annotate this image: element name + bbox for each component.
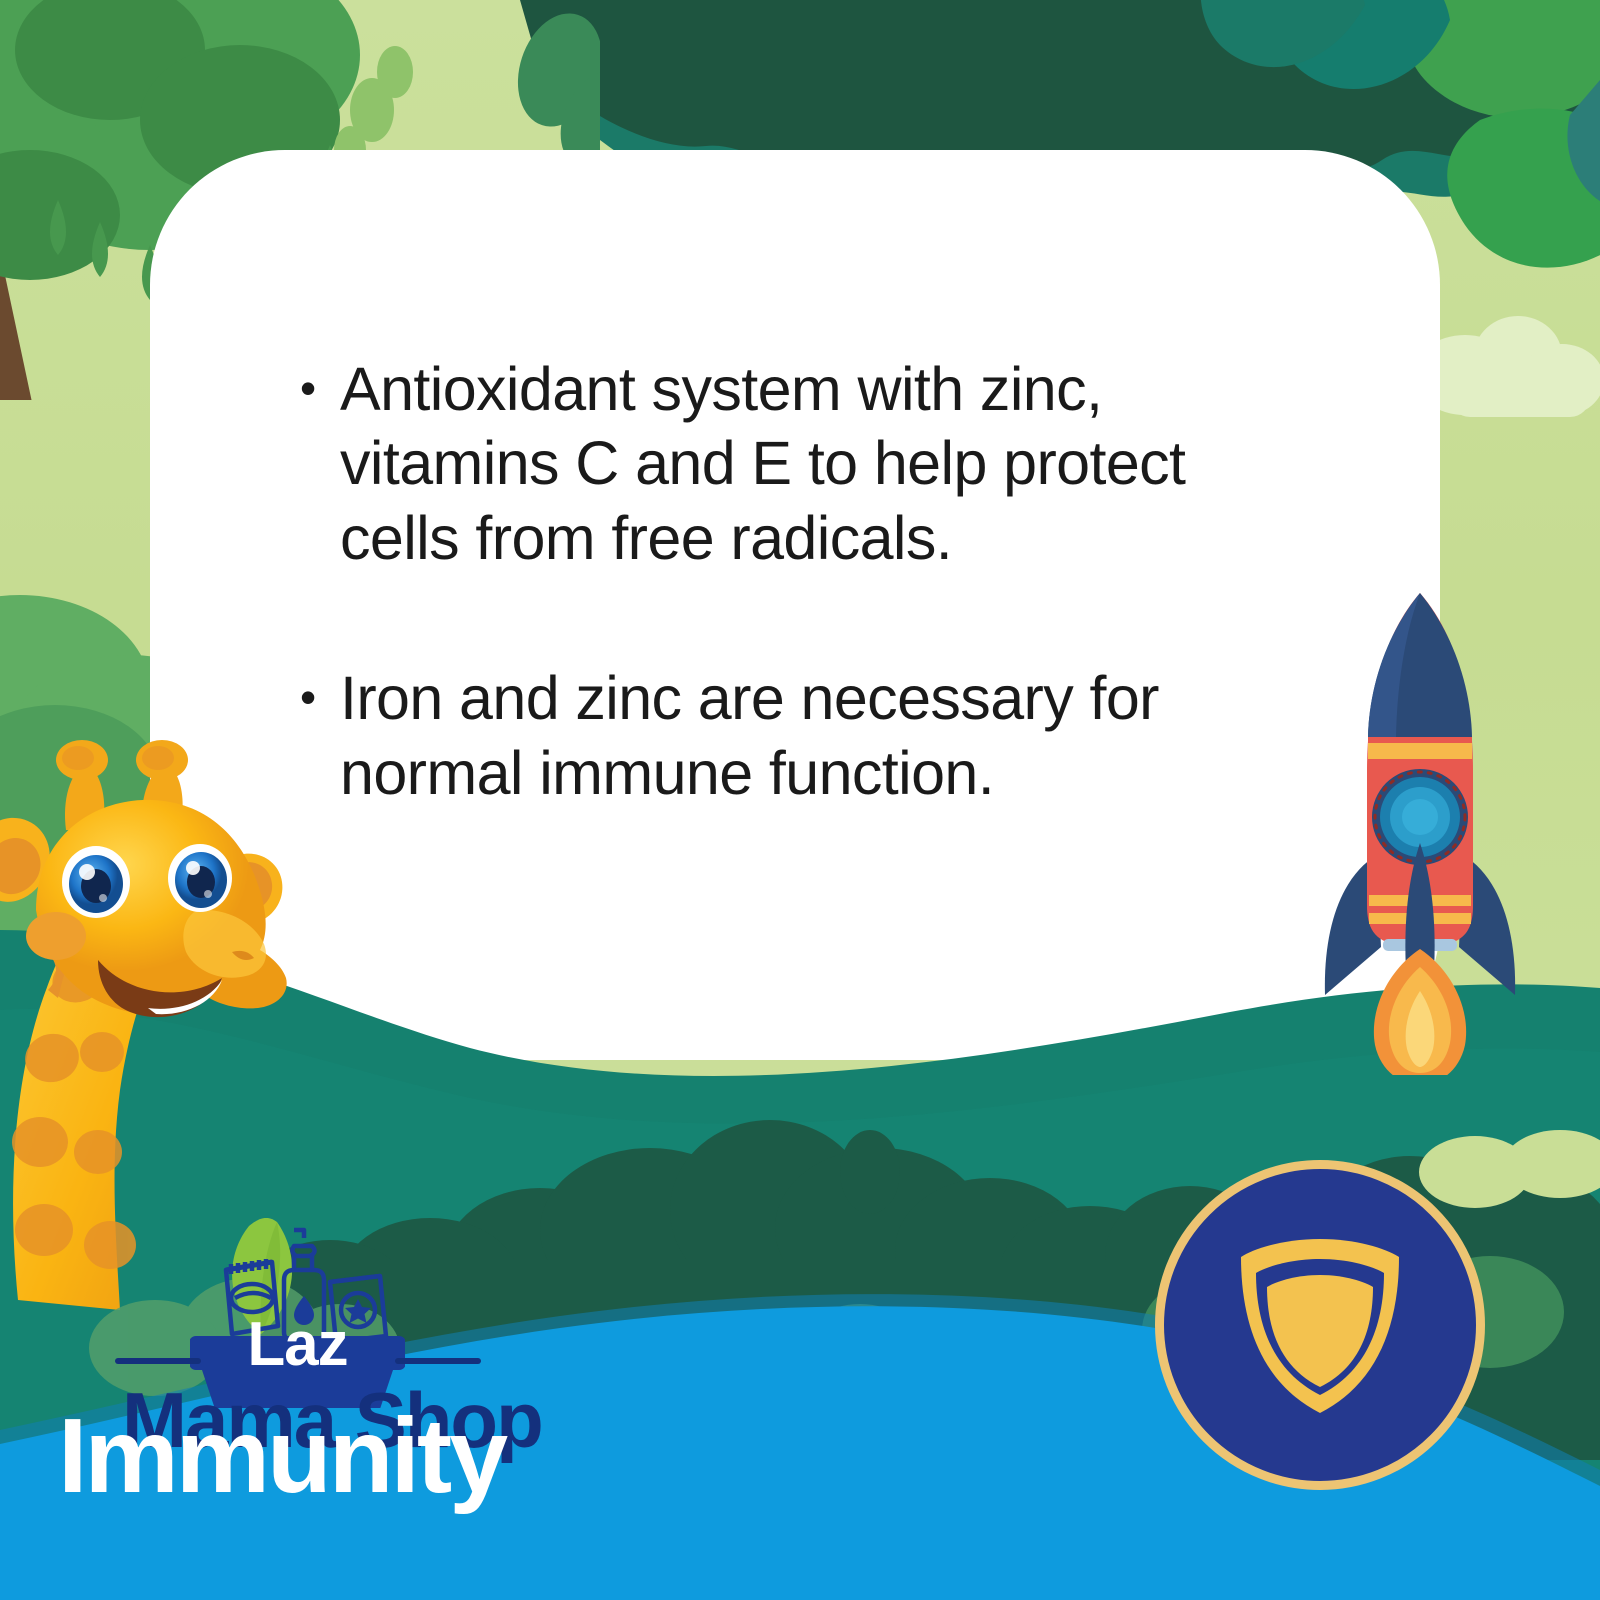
bullet-marker-icon: • xyxy=(300,661,340,734)
bullet-list: • Antioxidant system with zinc, vitamins… xyxy=(300,352,1240,810)
logo-rule-left xyxy=(115,1358,201,1364)
brand-logo-block: Laz Mama Shop Immunity xyxy=(90,1218,520,1548)
bullet-text: Antioxidant system with zinc, vitamins C… xyxy=(340,352,1240,575)
logo-rule-right xyxy=(395,1358,481,1364)
bullet-text: Iron and zinc are necessary for normal i… xyxy=(340,661,1240,810)
overlay-title-immunity: Immunity xyxy=(58,1403,505,1509)
bullet-marker-icon: • xyxy=(300,352,340,425)
list-item: • Antioxidant system with zinc, vitamins… xyxy=(300,352,1240,575)
shield-icon xyxy=(1235,1233,1405,1418)
poster-canvas: Laz Mama Shop Immunity • Antioxidant sys… xyxy=(0,0,1600,1600)
list-item: • Iron and zinc are necessary for normal… xyxy=(300,661,1240,810)
immunity-shield-badge[interactable] xyxy=(1155,1160,1485,1490)
brand-laz-text: Laz xyxy=(190,1314,405,1376)
